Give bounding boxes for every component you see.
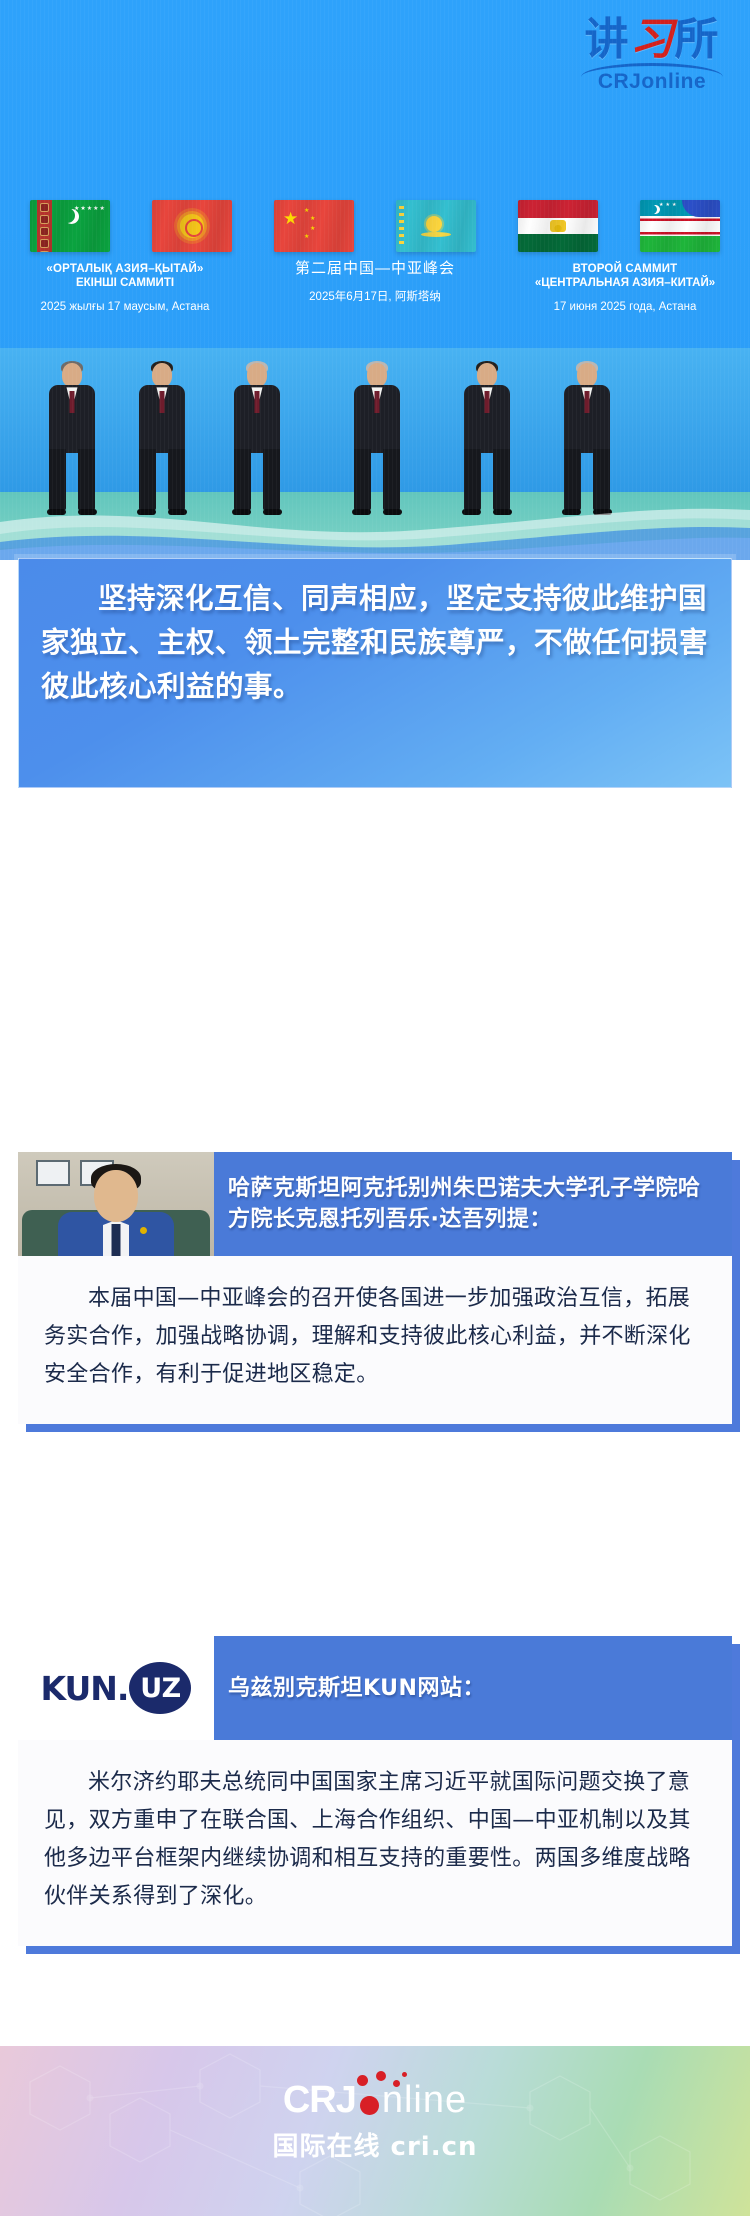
cri-text: CRJ (283, 2078, 356, 2122)
quote-card-1: 哈萨克斯坦阿克托别州朱巴诺夫大学孔子学院哈方院长克恩托列吾乐·达吾列提： 本届中… (18, 1152, 732, 1424)
caption-russian: ВТОРОЙ САММИТ «ЦЕНТРАЛЬНАЯ АЗИЯ–КИТАЙ» 1… (500, 262, 750, 332)
crescent-icon (648, 205, 657, 214)
eagle-icon (421, 232, 451, 237)
caption-line-2: «ЦЕНТРАЛЬНАЯ АЗИЯ–КИТАЙ» (504, 276, 746, 290)
tajikistan-flag (518, 200, 598, 252)
crescent-icon (60, 208, 75, 223)
uz-badge: UZ (129, 1662, 191, 1714)
kun-text: KUN. (41, 1669, 129, 1708)
wall-frame-icon (36, 1160, 70, 1186)
kyrgyzstan-flag (152, 200, 232, 252)
flag-blue-band (640, 200, 720, 216)
hero-banner: 讲习所 CRJonline ★★★★★ ★ ★ ★ ★ ★ (0, 0, 750, 560)
caption-line-1: 第二届中国—中亚峰会 (254, 262, 496, 276)
leader-figure (228, 363, 286, 513)
quote-section: 坚持深化互信、同声相应，坚定支持彼此维护国家独立、主权、领土完整和民族尊严，不做… (0, 545, 750, 795)
kun-uz-logo: KUN. UZ (18, 1636, 214, 1740)
caption-line-1: ВТОРОЙ САММИТ (504, 262, 746, 276)
cri-online-logo: CRJ nline 国际在线 cri.cn (0, 2078, 750, 2163)
logo-row-primary: CRJ nline (0, 2078, 750, 2122)
lapel-pin-icon (140, 1227, 147, 1234)
caption-kazakh: «ОРТАЛЫҚ АЗИЯ–ҚЫТАЙ» ЕКІНШІ САММИТІ 2025… (0, 262, 250, 332)
footer: CRJ nline 国际在线 cri.cn (0, 2046, 750, 2216)
card-header: KUN. UZ 乌兹别克斯坦KUN网站： (18, 1636, 732, 1740)
card-body-text: 米尔济约耶夫总统同中国国家主席习近平就国际问题交换了意见，双方重申了在联合国、上… (18, 1740, 732, 1946)
leader-figure (348, 363, 406, 513)
head-shape (94, 1170, 138, 1222)
brand-char-suo: 所 (675, 14, 720, 65)
card-body-text: 本届中国—中亚峰会的召开使各国进一步加强政治互信，拓展务实合作，加强战略协调，理… (18, 1256, 732, 1424)
caption-row: «ОРТАЛЫҚ АЗИЯ–ҚЫТАЙ» ЕКІНШІ САММИТІ 2025… (0, 262, 750, 332)
quote-card: 坚持深化互信、同声相应，坚定支持彼此维护国家独立、主权、领土完整和民族尊严，不做… (18, 558, 732, 788)
caption-line-1: «ОРТАЛЫҚ АЗИЯ–ҚЫТАЙ» (4, 262, 246, 276)
small-star-icon: ★ (304, 208, 309, 214)
logo-dot-icon (357, 2075, 368, 2086)
speaker-portrait (18, 1152, 214, 1256)
quote-text: 坚持深化互信、同声相应，坚定支持彼此维护国家独立、主权、领土完整和民族尊严，不做… (41, 577, 709, 709)
leader-figure (558, 363, 616, 513)
uzbekistan-flag: ★★★ (640, 200, 720, 252)
logo-subtitle: 国际在线 cri.cn (0, 2126, 750, 2163)
portrait-illustration (18, 1152, 214, 1256)
card-title: 乌兹别克斯坦KUN网站： (214, 1636, 732, 1740)
brand-char-jiang: 讲 (585, 14, 630, 65)
logo-dot-icon (376, 2071, 386, 2081)
caption-line-3: 17 июня 2025 года, Астана (504, 300, 746, 314)
caption-chinese: 第二届中国—中亚峰会 2025年6月17日, 阿斯塔纳 (250, 262, 500, 332)
turkmenistan-flag: ★★★★★ (30, 200, 110, 252)
logo-dot-icon (360, 2096, 379, 2115)
china-flag: ★ ★ ★ ★ ★ (274, 200, 354, 252)
brand-swoosh-icon (577, 63, 727, 77)
crown-icon (550, 220, 566, 232)
sun-icon (180, 214, 204, 238)
tie-shape (112, 1224, 121, 1256)
flag-band (37, 200, 52, 252)
brand-char-xi: 习 (630, 14, 675, 65)
logo-dot-icon (402, 2072, 407, 2077)
logo-dot-icon (393, 2080, 400, 2087)
flag-row: ★★★★★ ★ ★ ★ ★ ★ ★★★ (0, 196, 750, 256)
card-header: 哈萨克斯坦阿克托别州朱巴诺夫大学孔子学院哈方院长克恩托列吾乐·达吾列提： (18, 1152, 732, 1256)
channel-logo: 讲习所 CRJonline (572, 18, 732, 106)
quote-card-2: KUN. UZ 乌兹别克斯坦KUN网站： 米尔济约耶夫总统同中国国家主席习近平就… (18, 1636, 732, 1946)
stars-icon: ★★★★★ (74, 206, 106, 212)
leader-figure (458, 363, 516, 513)
flag-wave (682, 200, 720, 217)
leader-figure (43, 363, 101, 513)
big-star-icon: ★ (283, 210, 298, 227)
kazakhstan-flag (396, 200, 476, 252)
caption-line-2: ЕКІНШІ САММИТІ (4, 276, 246, 290)
stars-icon: ★★★ (659, 203, 678, 208)
small-star-icon: ★ (310, 216, 315, 222)
brand-chinese-name: 讲习所 (572, 18, 732, 62)
small-star-icon: ★ (310, 226, 315, 232)
small-star-icon: ★ (304, 234, 309, 240)
card-title: 哈萨克斯坦阿克托别州朱巴诺夫大学孔子学院哈方院长克恩托列吾乐·达吾列提： (214, 1152, 732, 1256)
ornament-icon (399, 206, 404, 246)
sun-icon (426, 216, 442, 232)
caption-line-3: 2025 жылғы 17 маусым, Астана (4, 300, 246, 314)
caption-line-3: 2025年6月17日, 阿斯塔纳 (254, 290, 496, 304)
leader-figure (133, 363, 191, 513)
